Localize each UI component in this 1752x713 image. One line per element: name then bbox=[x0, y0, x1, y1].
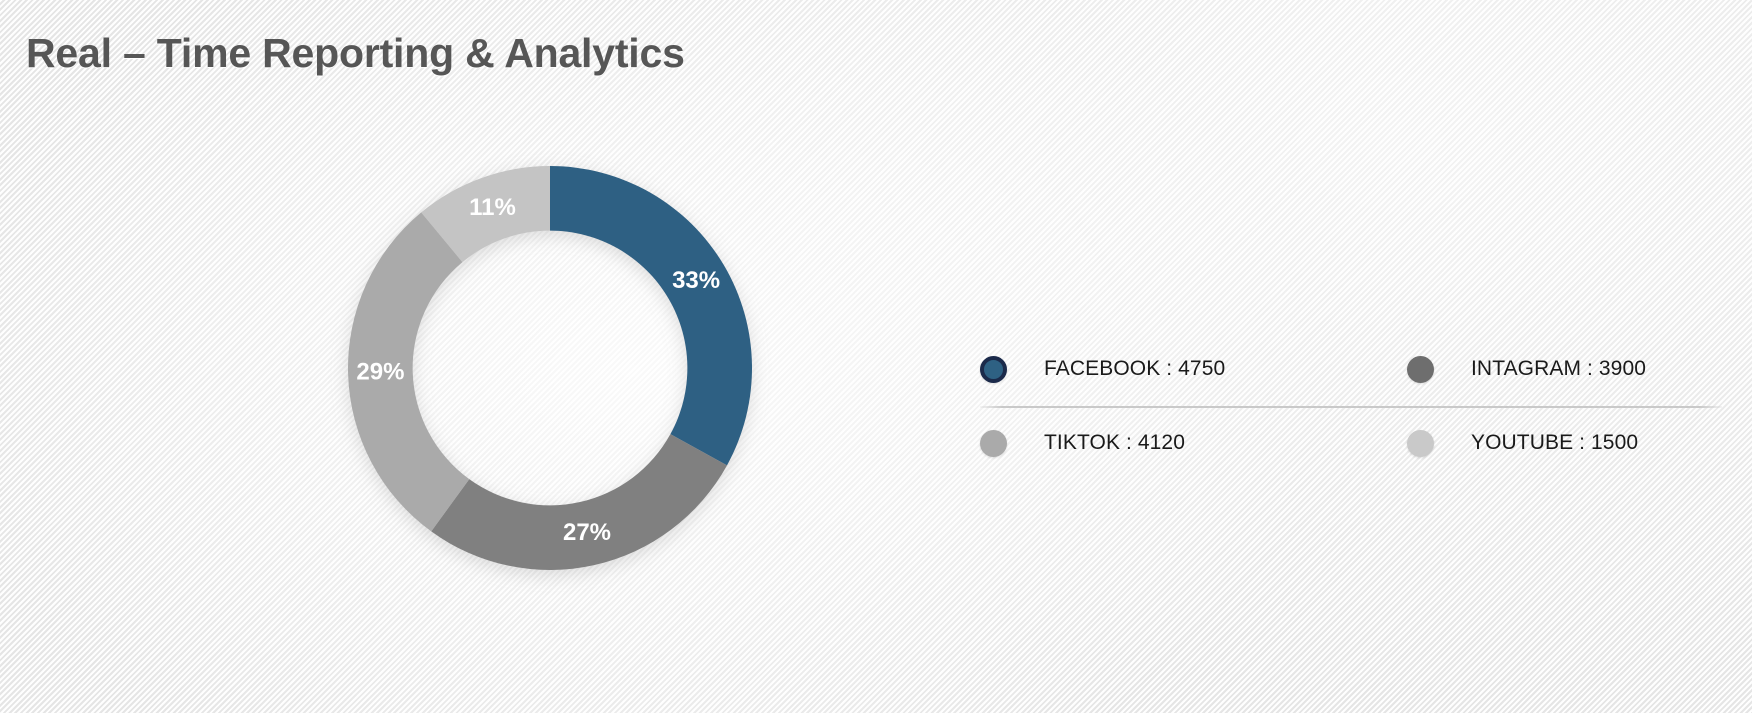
donut-label-facebook: 33% bbox=[672, 267, 720, 294]
legend-item-tiktok[interactable]: TIKTOK : 4120 bbox=[980, 430, 1351, 457]
legend-label-tiktok: TIKTOK : 4120 bbox=[1044, 431, 1185, 455]
page-title: Real – Time Reporting & Analytics bbox=[26, 30, 685, 77]
legend-label-youtube: YOUTUBE : 1500 bbox=[1471, 431, 1638, 455]
donut-slice-group bbox=[348, 166, 752, 570]
slide-canvas: Real – Time Reporting & Analytics 33%27%… bbox=[0, 0, 1752, 713]
legend-swatch-tiktok-icon bbox=[980, 430, 1007, 457]
legend-swatch-youtube-icon bbox=[1407, 430, 1434, 457]
donut-label-youtube: 11% bbox=[469, 194, 516, 221]
chart-legend: FACEBOOK : 4750 INTAGRAM : 3900 TIKTOK :… bbox=[980, 338, 1722, 474]
legend-item-facebook[interactable]: FACEBOOK : 4750 bbox=[980, 356, 1351, 383]
donut-label-intagram: 27% bbox=[563, 519, 611, 546]
legend-row: TIKTOK : 4120 YOUTUBE : 1500 bbox=[980, 412, 1722, 474]
legend-label-facebook: FACEBOOK : 4750 bbox=[1044, 357, 1225, 381]
donut-slice-facebook[interactable] bbox=[550, 166, 752, 465]
legend-row: FACEBOOK : 4750 INTAGRAM : 3900 bbox=[980, 338, 1722, 400]
donut-label-tiktok: 29% bbox=[356, 359, 404, 386]
donut-chart-svg: 33%27%29%11% bbox=[300, 96, 800, 641]
legend-item-youtube[interactable]: YOUTUBE : 1500 bbox=[1351, 430, 1722, 457]
legend-item-intagram[interactable]: INTAGRAM : 3900 bbox=[1351, 356, 1722, 383]
legend-swatch-facebook-icon bbox=[980, 356, 1007, 383]
legend-swatch-intagram-icon bbox=[1407, 356, 1434, 383]
donut-slice-intagram[interactable] bbox=[431, 434, 727, 570]
legend-divider bbox=[980, 406, 1722, 408]
legend-label-intagram: INTAGRAM : 3900 bbox=[1471, 357, 1646, 381]
donut-chart[interactable]: 33%27%29%11% bbox=[300, 96, 800, 641]
